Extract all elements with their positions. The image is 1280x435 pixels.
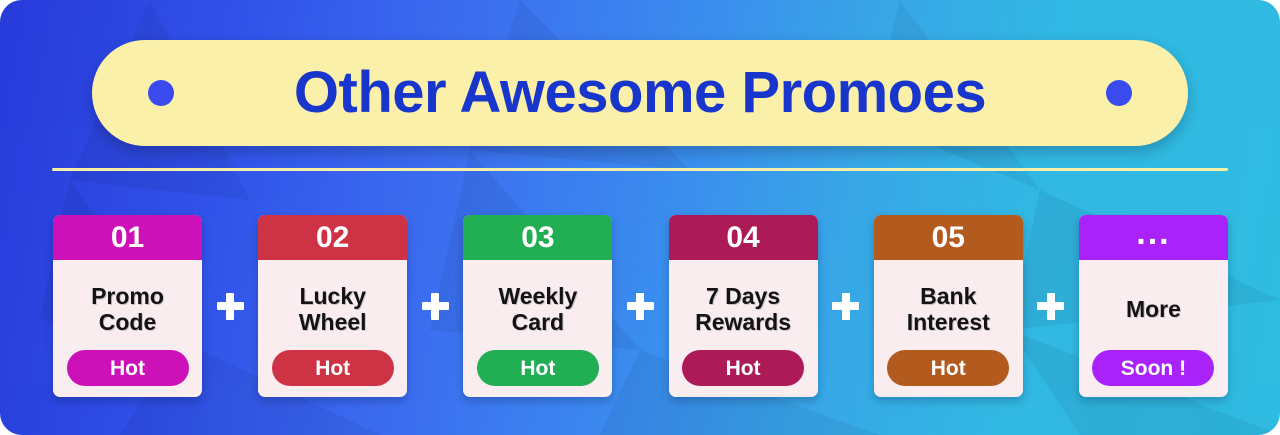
card-title: Lucky Wheel — [266, 270, 399, 350]
divider — [52, 168, 1228, 171]
banner-left-dot-icon — [148, 80, 174, 106]
title-banner: Other Awesome Promoes — [92, 40, 1188, 146]
plus-icon — [627, 293, 654, 320]
promo-banner: Other Awesome Promoes 01 Promo Code Hot … — [0, 0, 1280, 435]
card-number: ... — [1079, 215, 1228, 260]
plus-separator — [818, 215, 874, 397]
status-badge: Hot — [477, 350, 599, 386]
promo-cards-row: 01 Promo Code Hot 02 Lucky Wheel Hot 03 … — [53, 215, 1228, 397]
card-number: 02 — [258, 215, 407, 260]
card-body: Bank Interest Hot — [874, 260, 1023, 397]
card-title: Promo Code — [61, 270, 194, 350]
plus-separator — [202, 215, 258, 397]
card-body: More Soon ! — [1079, 260, 1228, 397]
status-badge: Soon ! — [1092, 350, 1214, 386]
card-body: Weekly Card Hot — [463, 260, 612, 397]
status-badge: Hot — [887, 350, 1009, 386]
status-badge: Hot — [67, 350, 189, 386]
card-body: Lucky Wheel Hot — [258, 260, 407, 397]
card-number: 03 — [463, 215, 612, 260]
plus-separator — [407, 215, 463, 397]
page-title: Other Awesome Promoes — [174, 64, 1106, 122]
card-title: Weekly Card — [471, 270, 604, 350]
card-title: More — [1124, 270, 1183, 350]
plus-icon — [832, 293, 859, 320]
card-body: 7 Days Rewards Hot — [669, 260, 818, 397]
promo-card-7-days-rewards[interactable]: 04 7 Days Rewards Hot — [669, 215, 818, 397]
card-number: 05 — [874, 215, 1023, 260]
plus-separator — [1023, 215, 1079, 397]
card-title: 7 Days Rewards — [677, 270, 810, 350]
plus-separator — [612, 215, 668, 397]
card-number: 04 — [669, 215, 818, 260]
plus-icon — [217, 293, 244, 320]
card-number: 01 — [53, 215, 202, 260]
promo-card-bank-interest[interactable]: 05 Bank Interest Hot — [874, 215, 1023, 397]
promo-card-lucky-wheel[interactable]: 02 Lucky Wheel Hot — [258, 215, 407, 397]
plus-icon — [1037, 293, 1064, 320]
promo-card-more[interactable]: ... More Soon ! — [1079, 215, 1228, 397]
banner-right-dot-icon — [1106, 80, 1132, 106]
status-badge: Hot — [682, 350, 804, 386]
card-title: Bank Interest — [882, 270, 1015, 350]
card-body: Promo Code Hot — [53, 260, 202, 397]
plus-icon — [422, 293, 449, 320]
promo-card-weekly-card[interactable]: 03 Weekly Card Hot — [463, 215, 612, 397]
promo-card-promo-code[interactable]: 01 Promo Code Hot — [53, 215, 202, 397]
status-badge: Hot — [272, 350, 394, 386]
